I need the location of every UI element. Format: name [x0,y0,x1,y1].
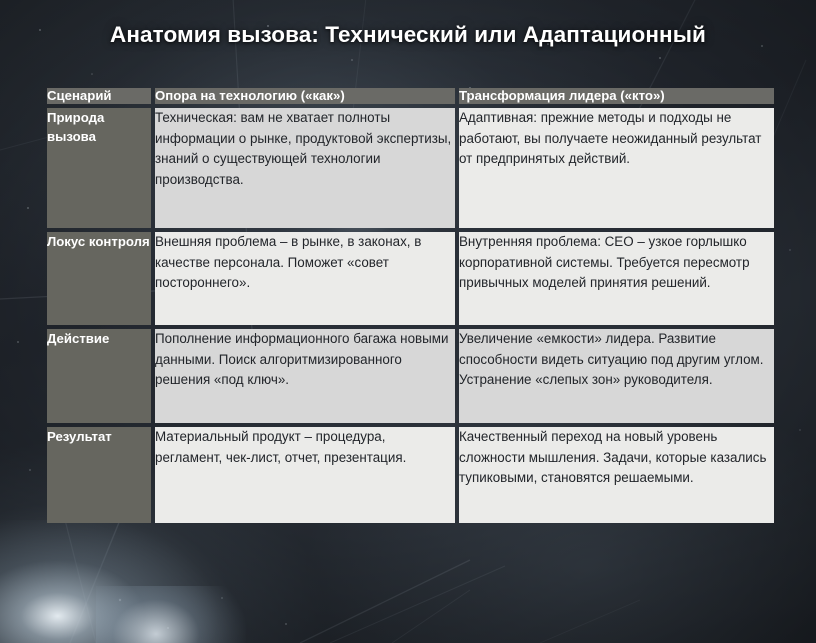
slide-title: Анатомия вызова: Технический или Адаптац… [0,22,816,48]
cell-technology-locus: Внешняя проблема – в рынке, в законах, в… [155,232,455,325]
column-header-technology: Опора на технологию («как») [155,88,455,104]
slide-canvas: Анатомия вызова: Технический или Адаптац… [0,0,816,643]
background-flare-secondary [96,586,246,643]
cell-leader-nature: Адаптивная: прежние методы и подходы не … [459,108,774,228]
table-row: Действие Пополнение информационного бага… [47,329,774,423]
table-row: Природа вызова Техническая: вам не хвата… [47,108,774,228]
cell-technology-action: Пополнение информационного багажа новыми… [155,329,455,423]
cell-leader-locus: Внутренняя проблема: CEO – узкое горлышк… [459,232,774,325]
cell-leader-action: Увеличение «емкости» лидера. Развитие сп… [459,329,774,423]
table-row: Локус контроля Внешняя проблема – в рынк… [47,232,774,325]
column-header-leader: Трансформация лидера («кто») [459,88,774,104]
comparison-table: Сценарий Опора на технологию («как») Тра… [43,84,778,527]
column-header-scenario: Сценарий [47,88,151,104]
cell-technology-nature: Техническая: вам не хватает полноты инфо… [155,108,455,228]
cell-leader-result: Качественный переход на новый уровень сл… [459,427,774,523]
cell-technology-result: Материальный продукт – процедура, реглам… [155,427,455,523]
row-label-action: Действие [47,329,151,423]
row-label-nature: Природа вызова [47,108,151,228]
row-label-locus: Локус контроля [47,232,151,325]
table-row: Результат Материальный продукт – процеду… [47,427,774,523]
row-label-result: Результат [47,427,151,523]
table-header-row: Сценарий Опора на технологию («как») Тра… [47,88,774,104]
